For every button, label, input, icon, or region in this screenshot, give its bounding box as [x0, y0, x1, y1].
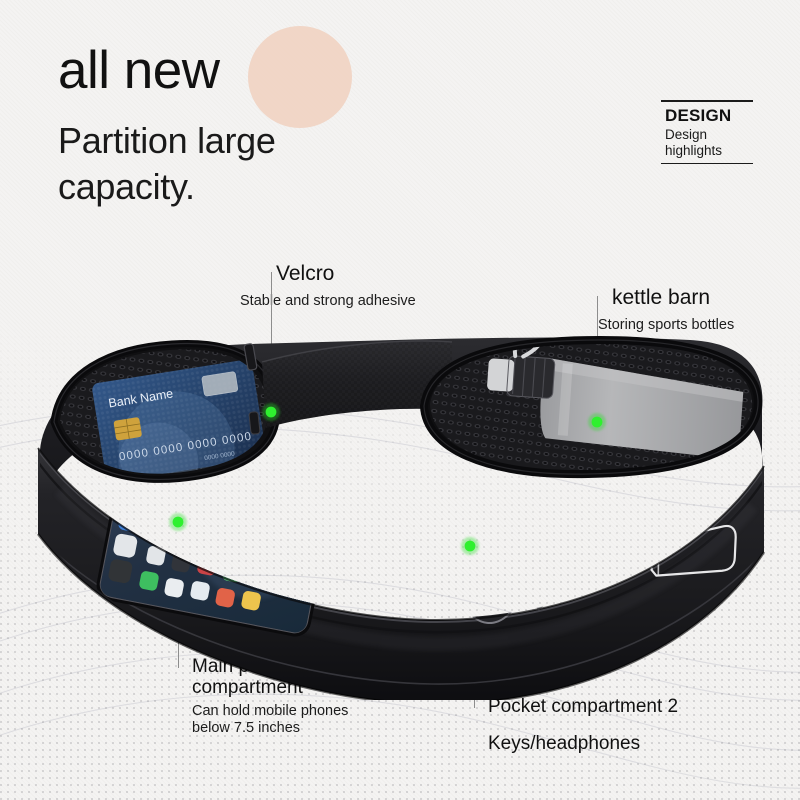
headline-eyebrow: all new — [58, 44, 219, 97]
earbud-left — [385, 518, 413, 565]
design-highlights-badge: DESIGN Design highlights — [661, 100, 753, 164]
headline-title: Partition large capacity. — [58, 118, 478, 209]
earbud-right — [419, 521, 447, 568]
bank-card: Bank Name 0000 0000 0000 0000 0000 0000 — [91, 359, 272, 519]
badge-subtitle: Design highlights — [665, 127, 753, 159]
marker-pocket-2 — [465, 541, 476, 552]
marker-velcro — [266, 407, 277, 418]
zipper-pulls — [339, 567, 367, 600]
callout-pocket-2-desc: Keys/headphones — [488, 733, 678, 754]
marker-bottle — [592, 417, 603, 428]
headline-accent-circle — [248, 26, 352, 128]
badge-title: DESIGN — [665, 106, 753, 126]
badge-rule-bottom — [661, 163, 753, 165]
headline-title-line1: Partition large — [58, 118, 478, 164]
product-running-belt: Bank Name 0000 0000 0000 0000 0000 0000 — [0, 300, 800, 700]
callout-main-pocket-desc-line2: below 7.5 inches — [192, 720, 348, 737]
belt-front-band — [38, 448, 768, 700]
infographic-canvas: all new Partition large capacity. DESIGN… — [0, 0, 800, 800]
badge-rule-top — [661, 100, 753, 102]
callout-pocket-2: Pocket compartment 2 Keys/headphones — [488, 696, 678, 755]
callout-velcro-title: Velcro — [276, 262, 416, 286]
callout-main-pocket-desc-line1: Can hold mobile phones — [192, 703, 348, 720]
marker-main-pocket — [173, 517, 184, 528]
badge-subtitle-line2: highlights — [665, 143, 753, 159]
badge-subtitle-line1: Design — [665, 127, 753, 143]
wireless-earbuds — [373, 517, 455, 621]
headline-title-line2: capacity. — [58, 164, 478, 210]
